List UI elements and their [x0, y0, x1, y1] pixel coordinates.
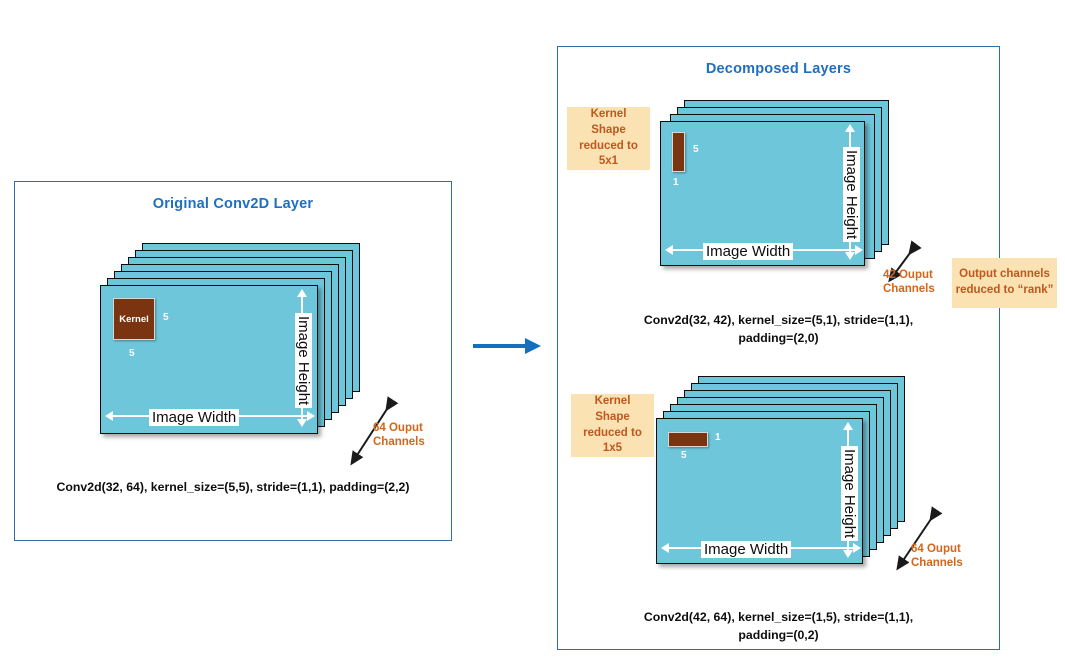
kernel-dim-width: 1 — [673, 177, 679, 188]
callout-line1: Kernel — [583, 394, 642, 410]
image-height-label: Image Height — [841, 446, 858, 541]
decomposed-layer1-caption: Conv2d(32, 42), kernel_size=(5,1), strid… — [598, 312, 959, 348]
output-channels-line2: Channels — [373, 435, 425, 449]
image-width-label: Image Width — [703, 243, 793, 260]
image-height-label: Image Height — [295, 313, 312, 408]
kernel-block-1x5 — [668, 432, 708, 447]
image-width-label: Image Width — [701, 541, 791, 558]
feature-map-front-sheet: 1 5 Image Width Image Height — [656, 418, 863, 564]
kernel-shape-callout-5x1: Kernel Shape reduced to 5x1 — [567, 107, 650, 170]
kernel-shape-callout-1x5: Kernel Shape reduced to 1x5 — [571, 394, 654, 457]
kernel-dim-height: 5 — [693, 144, 699, 155]
rank-callout: Output channels reduced to “rank” — [952, 258, 1057, 308]
feature-map-front-sheet: 5 1 Image Width Image Height — [660, 121, 865, 266]
decomposed-title: Decomposed Layers — [558, 61, 999, 77]
output-channels-line2: Channels — [883, 282, 935, 296]
kernel-dim-width: 5 — [681, 450, 687, 461]
caption-line2: padding=(2,0) — [598, 330, 959, 348]
output-channels-label-64: 64 Ouput Channels — [911, 542, 963, 571]
output-channels-label: 64 Ouput Channels — [373, 421, 425, 450]
image-height-label: Image Height — [843, 147, 860, 242]
image-width-label: Image Width — [149, 409, 239, 426]
output-channels-line2: Channels — [911, 556, 963, 570]
transition-arrow-icon — [473, 336, 543, 356]
kernel-dim-width: 5 — [163, 312, 169, 323]
callout-line2: Shape — [579, 123, 638, 139]
caption-line1: Conv2d(32, 42), kernel_size=(5,1), strid… — [598, 312, 959, 330]
rank-callout-line2: reduced to “rank” — [956, 283, 1054, 299]
caption-line2: padding=(0,2) — [598, 627, 959, 645]
kernel-dim-height: 5 — [129, 348, 135, 359]
callout-line3: reduced to — [583, 426, 642, 442]
rank-callout-line1: Output channels — [956, 267, 1054, 283]
callout-line3: reduced to — [579, 139, 638, 155]
kernel-block: Kernel — [113, 298, 155, 340]
kernel-block-5x1 — [672, 132, 685, 172]
kernel-label: Kernel — [119, 314, 149, 325]
output-channels-line1: 42 Ouput — [883, 268, 935, 282]
callout-line4: 5x1 — [579, 154, 638, 170]
decomposed-layer2-caption: Conv2d(42, 64), kernel_size=(1,5), strid… — [598, 609, 959, 645]
callout-line1: Kernel — [579, 107, 638, 123]
output-channels-line1: 64 Ouput — [911, 542, 963, 556]
callout-line2: Shape — [583, 410, 642, 426]
original-caption: Conv2d(32, 64), kernel_size=(5,5), strid… — [15, 479, 451, 497]
page-title: Original Conv2D Layer — [15, 196, 451, 212]
output-channels-label-42: 42 Ouput Channels — [883, 268, 935, 297]
caption-line1: Conv2d(42, 64), kernel_size=(1,5), strid… — [598, 609, 959, 627]
callout-line4: 1x5 — [583, 441, 642, 457]
feature-map-front-sheet: Kernel 5 5 Image Width Image Height — [100, 285, 318, 434]
decomposed-layers-panel: Decomposed Layers Kernel Shape reduced t… — [557, 46, 1000, 650]
output-channels-line1: 64 Ouput — [373, 421, 425, 435]
original-conv2d-panel: Original Conv2D Layer Kernel 5 5 Image W… — [14, 181, 452, 541]
kernel-dim-height: 1 — [715, 432, 721, 443]
